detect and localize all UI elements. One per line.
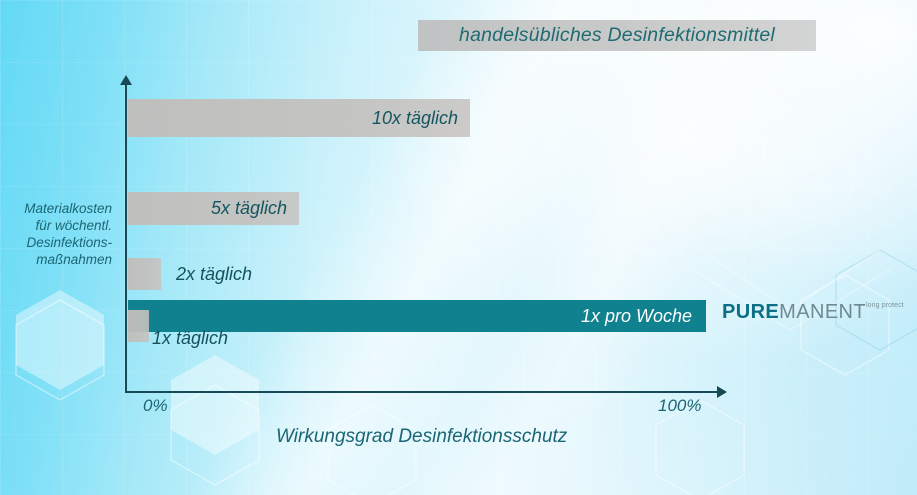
bar-label-1x-pro-woche: 1x pro Woche [581, 306, 692, 327]
bar-1x-taeglich [128, 310, 149, 342]
infographic-chart: handelsübliches Desinfektionsmittel 10x … [0, 0, 917, 495]
y-axis-title-line-2: für wöchentl. [0, 217, 112, 234]
y-axis-title-line-1: Materialkosten [0, 200, 112, 217]
header-banner: handelsübliches Desinfektionsmittel [418, 20, 816, 51]
x-axis-tick-100: 100% [658, 396, 701, 416]
background-hexagon-pattern [0, 0, 917, 495]
y-axis-line [125, 83, 127, 393]
bar-label-5x-taeglich: 5x täglich [211, 198, 287, 219]
x-axis-tick-0: 0% [143, 396, 168, 416]
logo-superscript-long-protect: long protect [866, 302, 904, 309]
x-axis-title: Wirkungsgrad Desinfektionsschutz [276, 426, 567, 448]
bar-label-10x-taeglich: 10x täglich [372, 108, 458, 129]
bar-label-1x-taeglich: 1x täglich [152, 328, 228, 349]
logo-text-pure: PURE [722, 301, 779, 324]
y-axis-title-line-3: Desinfektions- [0, 234, 112, 251]
y-axis-arrow-icon [120, 75, 132, 85]
bar-10x-taeglich: 10x täglich [128, 99, 470, 137]
x-axis-line [125, 391, 720, 393]
logo-text-manent: MANENT [779, 301, 866, 324]
x-axis-arrow-icon [717, 386, 727, 398]
y-axis-title: Materialkosten für wöchentl. Desinfektio… [0, 200, 112, 268]
bar-5x-taeglich: 5x täglich [128, 192, 299, 225]
puremanent-logo: PURE MANENT long protect [722, 301, 904, 324]
bar-2x-taeglich [128, 258, 161, 290]
header-banner-label: handelsübliches Desinfektionsmittel [459, 24, 775, 47]
y-axis-title-line-4: maßnahmen [0, 251, 112, 268]
bar-label-2x-taeglich: 2x täglich [176, 264, 252, 285]
